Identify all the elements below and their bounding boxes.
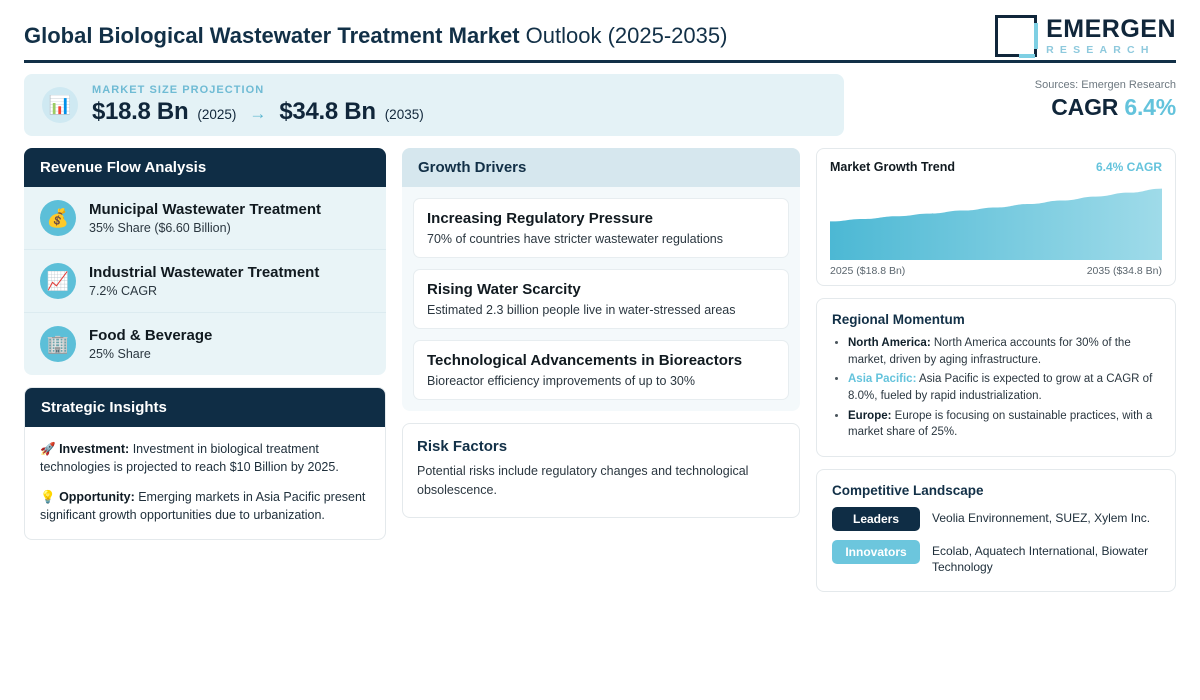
growth-drivers-header: Growth Drivers	[402, 148, 800, 187]
logo-square-icon	[995, 15, 1037, 57]
driver-title: Rising Water Scarcity	[427, 281, 775, 298]
header-divider	[24, 60, 1176, 63]
chart-axis-labels: 2025 ($18.8 Bn) 2035 ($34.8 Bn)	[830, 265, 1162, 277]
chart-title: Market Growth Trend	[830, 160, 955, 174]
chart-x-start-label: 2025 ($18.8 Bn)	[830, 265, 905, 277]
cagr-label: CAGR	[1051, 94, 1118, 120]
market-size-values: $18.8 Bn (2025) → $34.8 Bn (2035)	[92, 98, 424, 126]
revenue-row-sub: 35% Share ($6.60 Billion)	[89, 221, 321, 235]
chart-header: Market Growth Trend 6.4% CAGR	[830, 160, 1162, 174]
logo-wordmark: EMERGEN RESEARCH	[1046, 17, 1176, 56]
value-end: $34.8 Bn	[279, 98, 375, 126]
market-size-label: MARKET SIZE PROJECTION	[92, 84, 424, 96]
middle-column: Growth Drivers Increasing Regulatory Pre…	[402, 148, 800, 518]
emergen-research-logo: EMERGEN RESEARCH	[995, 15, 1176, 57]
market-growth-trend-card: Market Growth Trend 6.4% CAGR	[816, 148, 1176, 286]
strategic-insights-header: Strategic Insights	[25, 388, 385, 427]
insight-label: Opportunity:	[59, 490, 135, 504]
list-item[interactable]: 💰 Municipal Wastewater Treatment 35% Sha…	[24, 187, 386, 249]
page-title-rest: Outlook (2025-2035)	[520, 23, 728, 48]
competitive-landscape-card: Competitive Landscape Leaders Veolia Env…	[816, 469, 1176, 592]
revenue-row-title: Municipal Wastewater Treatment	[89, 201, 321, 220]
chart-increasing-icon: 📈	[40, 263, 76, 299]
content-columns: Revenue Flow Analysis 💰 Municipal Wastew…	[24, 148, 1176, 592]
competitive-row: Leaders Veolia Environnement, SUEZ, Xyle…	[832, 507, 1160, 531]
driver-sub: Bioreactor efficiency improvements of up…	[427, 374, 775, 388]
revenue-flow-list: 💰 Municipal Wastewater Treatment 35% Sha…	[24, 187, 386, 375]
page-header: Global Biological Wastewater Treatment M…	[24, 0, 1176, 58]
market-size-banner: 📊 MARKET SIZE PROJECTION $18.8 Bn (2025)…	[24, 74, 844, 136]
list-item: Europe: Europe is focusing on sustainabl…	[848, 408, 1160, 441]
logo-word: EMERGEN	[1046, 17, 1176, 42]
region-text: Europe is focusing on sustainable practi…	[848, 410, 1152, 439]
insight-label: Investment:	[59, 442, 129, 456]
leaders-names: Veolia Environnement, SUEZ, Xylem Inc.	[932, 507, 1150, 526]
sources-text: Sources: Emergen Research	[858, 79, 1176, 91]
chart-x-end-label: 2035 ($34.8 Bn)	[1087, 265, 1162, 277]
list-item[interactable]: 📈 Industrial Wastewater Treatment 7.2% C…	[24, 249, 386, 312]
cagr-block: Sources: Emergen Research CAGR 6.4%	[858, 74, 1176, 121]
innovators-names: Ecolab, Aquatech International, Biowater…	[932, 540, 1160, 575]
risk-factors-title: Risk Factors	[417, 438, 785, 455]
innovators-badge: Innovators	[832, 540, 920, 564]
revenue-flow-header: Revenue Flow Analysis	[24, 148, 386, 187]
list-item: Asia Pacific: Asia Pacific is expected t…	[848, 371, 1160, 404]
risk-factors-text: Potential risks include regulatory chang…	[417, 462, 785, 500]
arrow-icon: →	[245, 104, 270, 124]
driver-sub: Estimated 2.3 billion people live in wat…	[427, 303, 775, 317]
page-title: Global Biological Wastewater Treatment M…	[24, 24, 727, 48]
revenue-row-title: Industrial Wastewater Treatment	[89, 264, 319, 283]
rocket-icon: 🚀	[40, 442, 56, 456]
insight-item: 🚀 Investment: Investment in biological t…	[40, 440, 370, 476]
driver-title: Technological Advancements in Bioreactor…	[427, 352, 775, 369]
area-chart-svg	[830, 182, 1162, 260]
revenue-row-sub: 7.2% CAGR	[89, 284, 319, 298]
regional-momentum-title: Regional Momentum	[832, 312, 1160, 327]
money-bag-icon: 💰	[40, 200, 76, 236]
logo-subword: RESEARCH	[1046, 45, 1176, 56]
growth-drivers-card: Growth Drivers Increasing Regulatory Pre…	[402, 148, 800, 411]
market-size-banner-row: 📊 MARKET SIZE PROJECTION $18.8 Bn (2025)…	[24, 74, 1176, 136]
area-chart	[830, 182, 1162, 260]
page-title-strong: Global Biological Wastewater Treatment M…	[24, 23, 520, 48]
driver-sub: 70% of countries have stricter wastewate…	[427, 232, 775, 246]
growth-drivers-list: Increasing Regulatory Pressure 70% of co…	[402, 187, 800, 411]
right-column: Market Growth Trend 6.4% CAGR	[816, 148, 1176, 592]
year-start: (2025)	[197, 107, 236, 122]
chart-cagr-badge: 6.4% CAGR	[1096, 160, 1162, 174]
list-item[interactable]: 🏢 Food & Beverage 25% Share	[24, 312, 386, 375]
leaders-badge: Leaders	[832, 507, 920, 531]
year-end: (2035)	[385, 107, 424, 122]
revenue-flow-card: Revenue Flow Analysis 💰 Municipal Wastew…	[24, 148, 386, 375]
list-item[interactable]: Increasing Regulatory Pressure 70% of co…	[413, 198, 789, 258]
competitive-landscape-title: Competitive Landscape	[832, 483, 1160, 498]
value-start: $18.8 Bn	[92, 98, 188, 126]
insight-item: 💡 Opportunity: Emerging markets in Asia …	[40, 488, 370, 524]
list-item[interactable]: Rising Water Scarcity Estimated 2.3 bill…	[413, 269, 789, 329]
cagr-value: 6.4%	[1124, 94, 1176, 120]
regional-momentum-list: North America: North America accounts fo…	[848, 335, 1160, 441]
region-label: North America:	[848, 337, 931, 349]
bar-chart-icon: 📊	[42, 87, 78, 123]
list-item[interactable]: Technological Advancements in Bioreactor…	[413, 340, 789, 400]
light-bulb-icon: 💡	[40, 490, 56, 504]
strategic-insights-body: 🚀 Investment: Investment in biological t…	[25, 427, 385, 539]
revenue-row-title: Food & Beverage	[89, 327, 212, 346]
infographic-page: Global Biological Wastewater Treatment M…	[0, 0, 1200, 700]
office-building-icon: 🏢	[40, 326, 76, 362]
driver-title: Increasing Regulatory Pressure	[427, 210, 775, 227]
strategic-insights-card: Strategic Insights 🚀 Investment: Investm…	[24, 387, 386, 540]
cagr-headline: CAGR 6.4%	[858, 94, 1176, 121]
list-item: North America: North America accounts fo…	[848, 335, 1160, 368]
risk-factors-card: Risk Factors Potential risks include reg…	[402, 423, 800, 518]
region-label: Europe:	[848, 410, 891, 422]
regional-momentum-card: Regional Momentum North America: North A…	[816, 298, 1176, 457]
region-label: Asia Pacific:	[848, 373, 916, 385]
revenue-row-sub: 25% Share	[89, 347, 212, 361]
left-column: Revenue Flow Analysis 💰 Municipal Wastew…	[24, 148, 386, 540]
competitive-row: Innovators Ecolab, Aquatech Internationa…	[832, 540, 1160, 575]
